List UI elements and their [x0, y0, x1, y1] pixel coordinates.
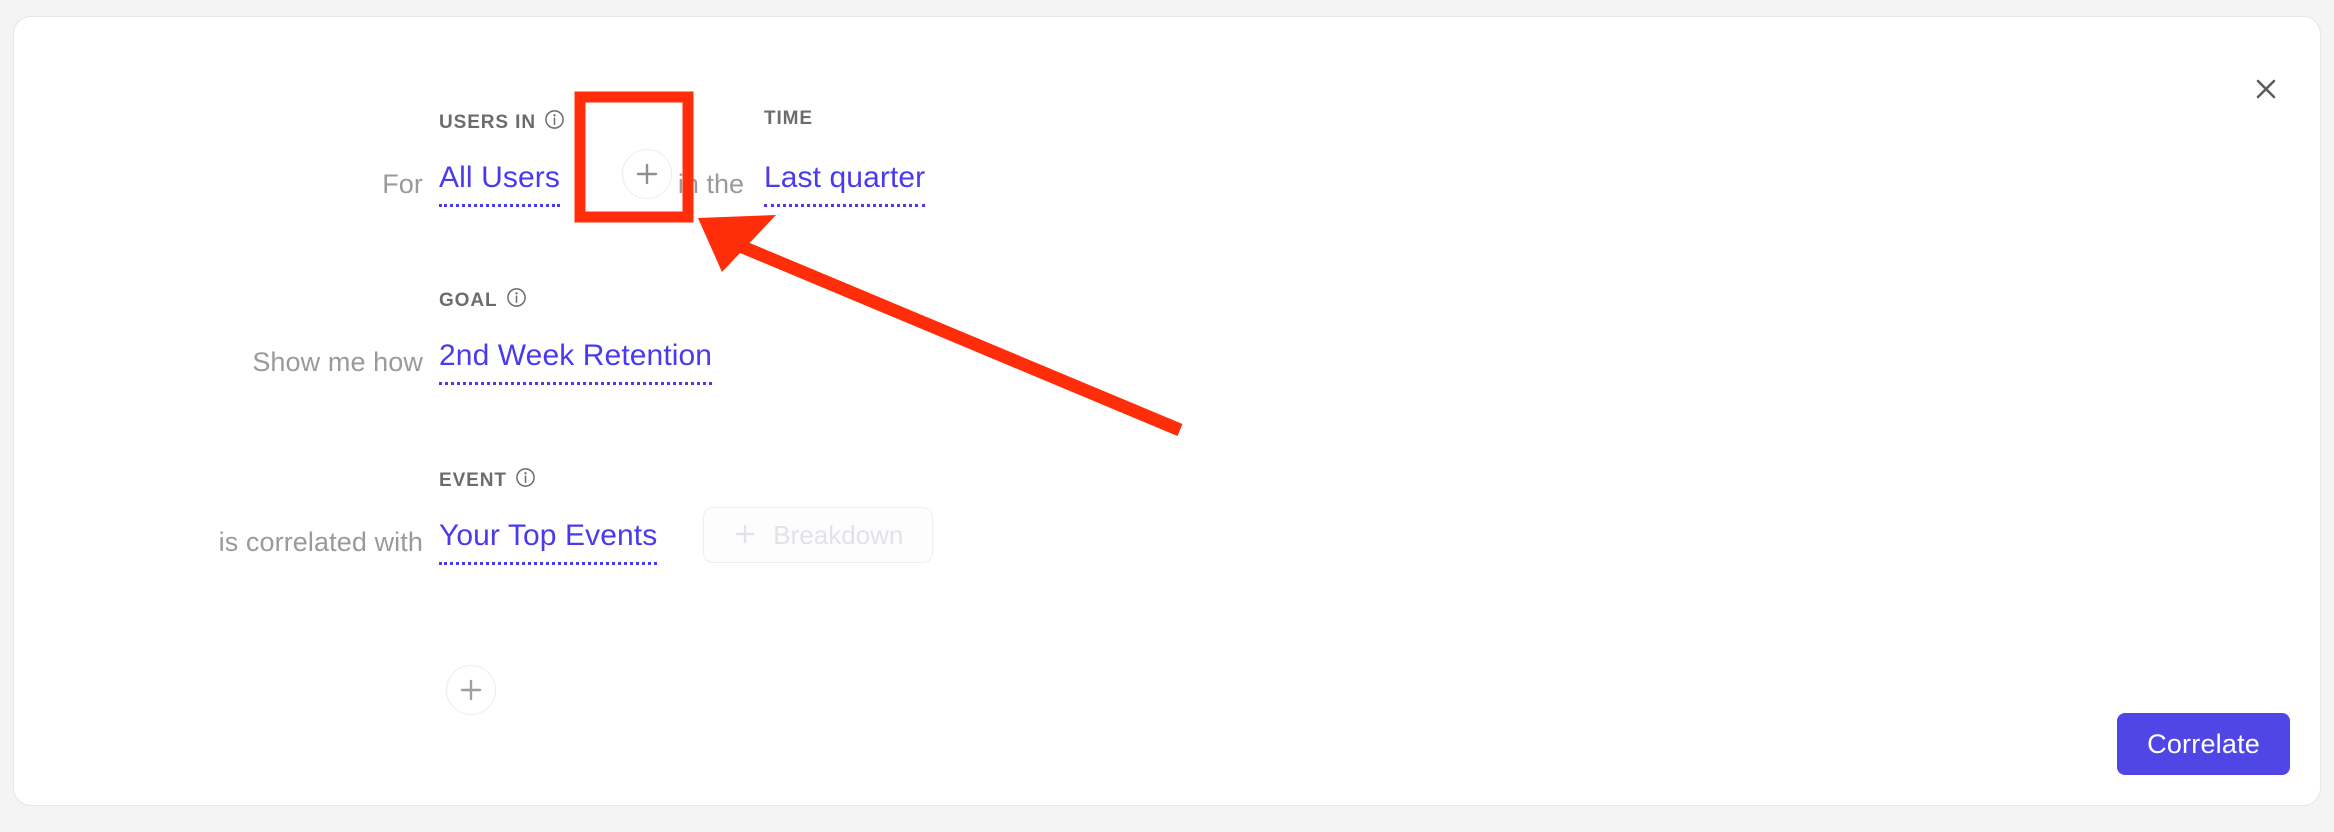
query-row-users: For USERS IN All Users in the — [14, 137, 925, 207]
close-button[interactable] — [2244, 67, 2288, 111]
time-underline — [764, 204, 925, 207]
users-in-underline — [439, 204, 560, 207]
goal-caption-label: GOAL — [439, 291, 498, 310]
users-in-field: USERS IN All Users — [439, 163, 560, 207]
row-prefix-for: For — [382, 171, 423, 207]
query-row-goal: Show me how GOAL 2nd Week Retention — [14, 315, 712, 385]
info-icon[interactable] — [544, 109, 565, 135]
add-breakdown-label: Breakdown — [773, 522, 903, 548]
goal-underline — [439, 382, 712, 385]
time-caption: TIME — [764, 109, 813, 128]
info-icon[interactable] — [515, 467, 536, 493]
row-prefix-show-me-how: Show me how — [252, 349, 423, 385]
connector-in-the: in the — [678, 171, 744, 207]
users-in-caption-label: USERS IN — [439, 113, 536, 132]
users-in-caption: USERS IN — [439, 109, 565, 135]
plus-icon — [733, 522, 757, 549]
goal-value[interactable]: 2nd Week Retention — [439, 341, 712, 382]
prefix-slot-for: For — [14, 171, 439, 207]
users-in-value[interactable]: All Users — [439, 163, 560, 204]
event-value[interactable]: Your Top Events — [439, 521, 657, 562]
event-field: EVENT Your Top Events — [439, 521, 657, 565]
close-icon — [2251, 74, 2281, 104]
goal-caption: GOAL — [439, 287, 527, 313]
event-caption-label: EVENT — [439, 471, 507, 490]
goal-field: GOAL 2nd Week Retention — [439, 341, 712, 385]
info-icon[interactable] — [506, 287, 527, 313]
add-step-button[interactable] — [446, 665, 496, 715]
correlate-button[interactable]: Correlate — [2117, 713, 2290, 775]
add-breakdown-button[interactable]: Breakdown — [703, 507, 933, 563]
query-builder-card: For USERS IN All Users in the — [13, 16, 2321, 806]
add-user-filter-button[interactable] — [622, 149, 672, 199]
time-value[interactable]: Last quarter — [764, 163, 925, 204]
time-field: TIME Last quarter — [764, 163, 925, 207]
time-caption-label: TIME — [764, 109, 813, 128]
plus-icon — [634, 161, 660, 187]
event-underline — [439, 562, 657, 565]
prefix-slot-is-correlated-with: is correlated with — [14, 529, 439, 565]
query-row-event: is correlated with EVENT Your Top Events — [14, 495, 933, 565]
plus-icon — [458, 677, 484, 703]
prefix-slot-show-me-how: Show me how — [14, 349, 439, 385]
row-prefix-is-correlated-with: is correlated with — [219, 529, 423, 565]
event-caption: EVENT — [439, 467, 536, 493]
